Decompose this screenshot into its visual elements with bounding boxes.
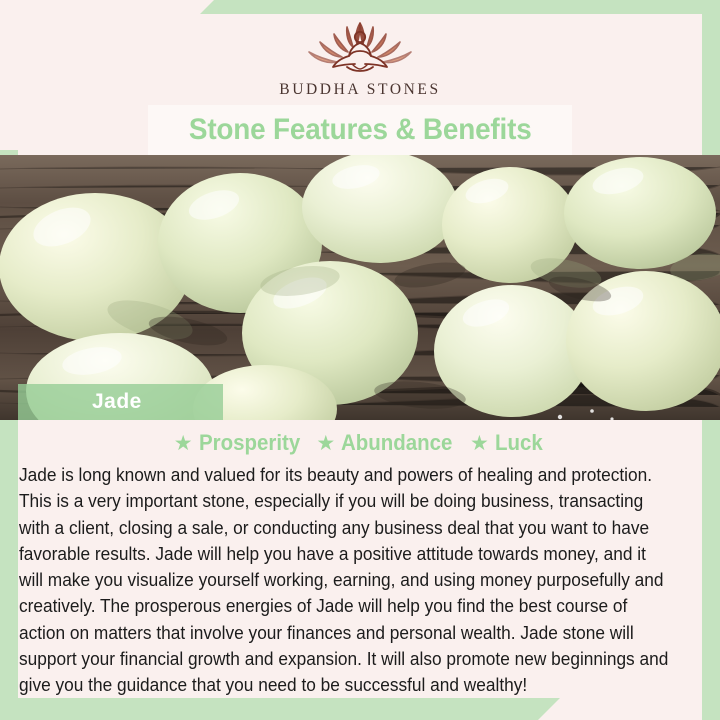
brand-name: BUDDHA STONES	[279, 81, 440, 99]
star-icon: ★	[470, 433, 489, 454]
benefits-list: ★ Prosperity ★ Abundance ★ Luck	[0, 430, 720, 456]
benefit-label: Luck	[495, 430, 543, 456]
star-icon: ★	[174, 433, 193, 454]
brand-logo: BUDDHA STONES	[0, 20, 720, 104]
stone-features-poster: BUDDHA STONES Stone Features & Benefits	[0, 0, 720, 720]
stone-photo	[0, 155, 720, 420]
benefit-item-luck: ★ Luck	[470, 430, 546, 456]
decorative-band-bottom-left	[0, 698, 560, 720]
star-icon: ★	[316, 433, 335, 454]
title-banner: Stone Features & Benefits	[148, 105, 572, 155]
stone-name-tag: Jade	[18, 384, 223, 420]
benefit-label: Prosperity	[199, 430, 300, 456]
lotus-meditation-figure-icon	[301, 20, 419, 78]
jade-stones-image	[0, 155, 720, 420]
page-title: Stone Features & Benefits	[189, 113, 532, 147]
decorative-band-top-right	[200, 0, 720, 14]
benefit-label: Abundance	[341, 430, 452, 456]
benefit-item-abundance: ★ Abundance	[316, 430, 461, 456]
benefit-item-prosperity: ★ Prosperity	[174, 430, 308, 456]
description-paragraph: Jade is long known and valued for its be…	[19, 462, 674, 699]
stone-name-label: Jade	[92, 390, 142, 414]
